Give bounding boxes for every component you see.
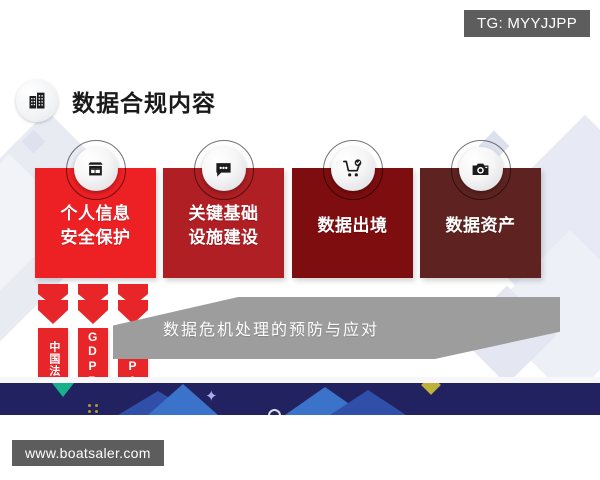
band-triangle-green [52, 383, 74, 397]
pillar-label-3: 数据出境 [318, 208, 388, 238]
pillar-label-1-line2: 安全保护 [61, 226, 131, 250]
pillar-label-3-line1: 数据出境 [318, 214, 388, 238]
crisis-banner-label: 数据危机处理的预防与应对 [163, 316, 379, 340]
slide-canvas: 数据合规内容 个人信息 安全保护 [0, 0, 600, 480]
band-diamond-yellow [421, 383, 441, 395]
pillar-label-4: 数据资产 [446, 208, 516, 238]
watermark-url: www.boatsaler.com [12, 440, 164, 466]
pillar-card-2[interactable]: 关键基础 设施建设 [163, 168, 284, 278]
camera-icon [459, 147, 503, 191]
storefront-icon [74, 147, 118, 191]
pillar-label-2-line1: 关键基础 [189, 202, 259, 226]
band-star-icon: ✦ [205, 389, 218, 404]
shopping-cart-check-icon [331, 147, 375, 191]
double-chevron-down-icon-2 [78, 284, 108, 328]
pillar-label-1-line1: 个人信息 [61, 202, 131, 226]
law-label-1: 中国法 [46, 341, 60, 377]
pillar-label-4-line1: 数据资产 [446, 214, 516, 238]
chat-bubble-icon [202, 147, 246, 191]
decorative-footer-band: ✦ [0, 383, 600, 415]
pillar-card-3[interactable]: 数据出境 [292, 168, 413, 278]
pillar-label-1: 个人信息 安全保护 [61, 196, 131, 250]
band-triangle-navy-2 [330, 390, 406, 415]
double-chevron-down-icon-1 [38, 284, 68, 328]
band-dot-grid [88, 404, 99, 413]
pillar-card-4[interactable]: 数据资产 [420, 168, 541, 278]
pillar-label-2: 关键基础 设施建设 [189, 196, 259, 250]
pillar-label-2-line2: 设施建设 [189, 226, 259, 250]
band-circle-outline [268, 409, 281, 415]
watermark-telegram: TG: MYYJJPP [464, 10, 590, 37]
pillar-card-1[interactable]: 个人信息 安全保护 [35, 168, 156, 278]
